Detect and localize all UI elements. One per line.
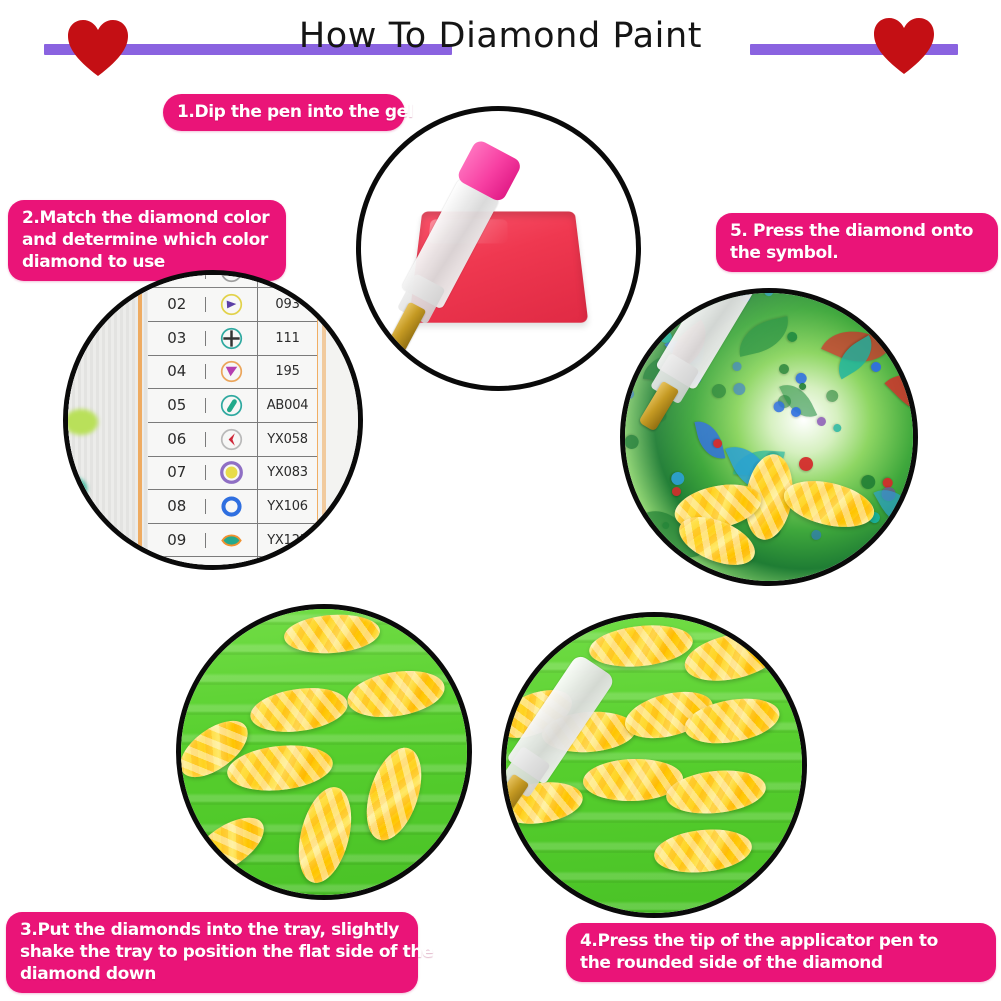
color-chart-number: 06 bbox=[148, 432, 206, 447]
color-chart-row: 03111 bbox=[148, 322, 317, 356]
tray-photo bbox=[181, 609, 467, 895]
step-5-label-line-2: the symbol. bbox=[730, 242, 984, 264]
color-chart-number: 05 bbox=[148, 398, 206, 413]
chart-margin-line bbox=[322, 270, 326, 570]
color-chart-number: 10 bbox=[148, 566, 206, 570]
step-3-label-line-1: 3.Put the diamonds into the tray, slight… bbox=[20, 919, 404, 941]
color-chart-code: YX106 bbox=[258, 500, 317, 513]
step-3-label: 3.Put the diamonds into the tray, slight… bbox=[6, 912, 418, 993]
color-chart-number: 08 bbox=[148, 499, 206, 514]
pen-pickup-photo bbox=[506, 617, 802, 913]
mandala-round-gem bbox=[638, 288, 648, 292]
color-chart-code: 195 bbox=[258, 365, 317, 378]
color-chart-symbol bbox=[206, 288, 258, 321]
step-2-photo: 0102002093031110419505AB00406YX05807YX08… bbox=[63, 270, 363, 570]
color-chart-code: 093 bbox=[258, 298, 317, 311]
color-chart-row: 10 bbox=[148, 557, 317, 570]
color-chart-symbol bbox=[206, 557, 258, 570]
step-5-label: 5. Press the diamond onto the symbol. bbox=[716, 213, 998, 272]
step-4-label: 4.Press the tip of the applicator pen to… bbox=[566, 923, 996, 982]
color-chart-row: 05AB004 bbox=[148, 389, 317, 423]
color-chart-row: 02093 bbox=[148, 288, 317, 322]
color-chart-table: 0102002093031110419505AB00406YX05807YX08… bbox=[148, 270, 317, 570]
color-chart-symbol bbox=[206, 423, 258, 456]
color-chart-code: YX083 bbox=[258, 466, 317, 479]
step-3-label-line-2: shake the tray to position the flat side… bbox=[20, 941, 404, 963]
color-chart-number: 03 bbox=[148, 331, 206, 346]
step-1-label-line-1: 1.Dip the pen into the gel bbox=[177, 101, 391, 123]
pen-tip bbox=[387, 302, 426, 353]
color-chart-row: 09YX125 bbox=[148, 524, 317, 558]
color-chart-row: 06YX058 bbox=[148, 423, 317, 457]
step-4-label-line-2: the rounded side of the diamond bbox=[580, 952, 982, 974]
step-3-label-line-3: diamond down bbox=[20, 963, 404, 985]
double-dot-circle-icon bbox=[220, 270, 243, 283]
step-2-label: 2.Match the diamond color and determine … bbox=[8, 200, 286, 281]
step-3-photo bbox=[176, 604, 472, 900]
plus-cross-icon bbox=[220, 327, 243, 350]
diamond-gem bbox=[283, 611, 381, 656]
color-chart-code: YX058 bbox=[258, 433, 317, 446]
step-2-label-line-3: diamond to use bbox=[22, 251, 272, 273]
pen-dipping-photo bbox=[361, 111, 636, 386]
color-chart-row: 04195 bbox=[148, 356, 317, 390]
step-1-photo bbox=[356, 106, 641, 391]
color-chart-number: 04 bbox=[148, 364, 206, 379]
left-chevron-icon bbox=[220, 428, 243, 451]
filled-triangle-icon bbox=[220, 293, 243, 316]
color-chart-symbol bbox=[206, 490, 258, 523]
open-ring-icon bbox=[220, 495, 243, 518]
color-chart-number: 02 bbox=[148, 297, 206, 312]
leaf-lens-icon bbox=[220, 529, 243, 552]
teal-lens-icon bbox=[220, 562, 243, 570]
color-chart-row: 08YX106 bbox=[148, 490, 317, 524]
step-5-photo bbox=[620, 288, 918, 586]
color-chart-number: 09 bbox=[148, 533, 206, 548]
diagonal-capsule-icon bbox=[220, 394, 243, 417]
step-5-label-line-1: 5. Press the diamond onto bbox=[730, 220, 984, 242]
color-chart-number: 07 bbox=[148, 465, 206, 480]
step-4-label-line-1: 4.Press the tip of the applicator pen to bbox=[580, 930, 982, 952]
chart-margin-line bbox=[138, 270, 142, 570]
canvas-print-blot bbox=[64, 409, 98, 435]
color-chart-code: YX125 bbox=[258, 534, 317, 547]
filled-triangle-down-icon bbox=[220, 360, 243, 383]
step-2-label-line-1: 2.Match the diamond color bbox=[22, 207, 272, 229]
filled-disc-icon bbox=[220, 461, 243, 484]
step-2-label-line-2: and determine which color bbox=[22, 229, 272, 251]
step-4-photo bbox=[501, 612, 807, 918]
color-chart-symbol bbox=[206, 322, 258, 355]
color-chart-photo: 0102002093031110419505AB00406YX05807YX08… bbox=[63, 270, 363, 570]
color-chart-symbol bbox=[206, 524, 258, 557]
color-chart-row: 07YX083 bbox=[148, 457, 317, 491]
page-title: How To Diamond Paint bbox=[0, 16, 1001, 56]
color-chart-symbol bbox=[206, 389, 258, 422]
color-chart-code: 111 bbox=[258, 332, 317, 345]
color-chart-symbol bbox=[206, 457, 258, 490]
infographic-canvas: How To Diamond Paint 1.Dip the pen into … bbox=[0, 0, 1001, 1001]
color-chart-code: AB004 bbox=[258, 399, 317, 412]
mandala-canvas-photo bbox=[625, 293, 913, 581]
color-chart-symbol bbox=[206, 356, 258, 389]
